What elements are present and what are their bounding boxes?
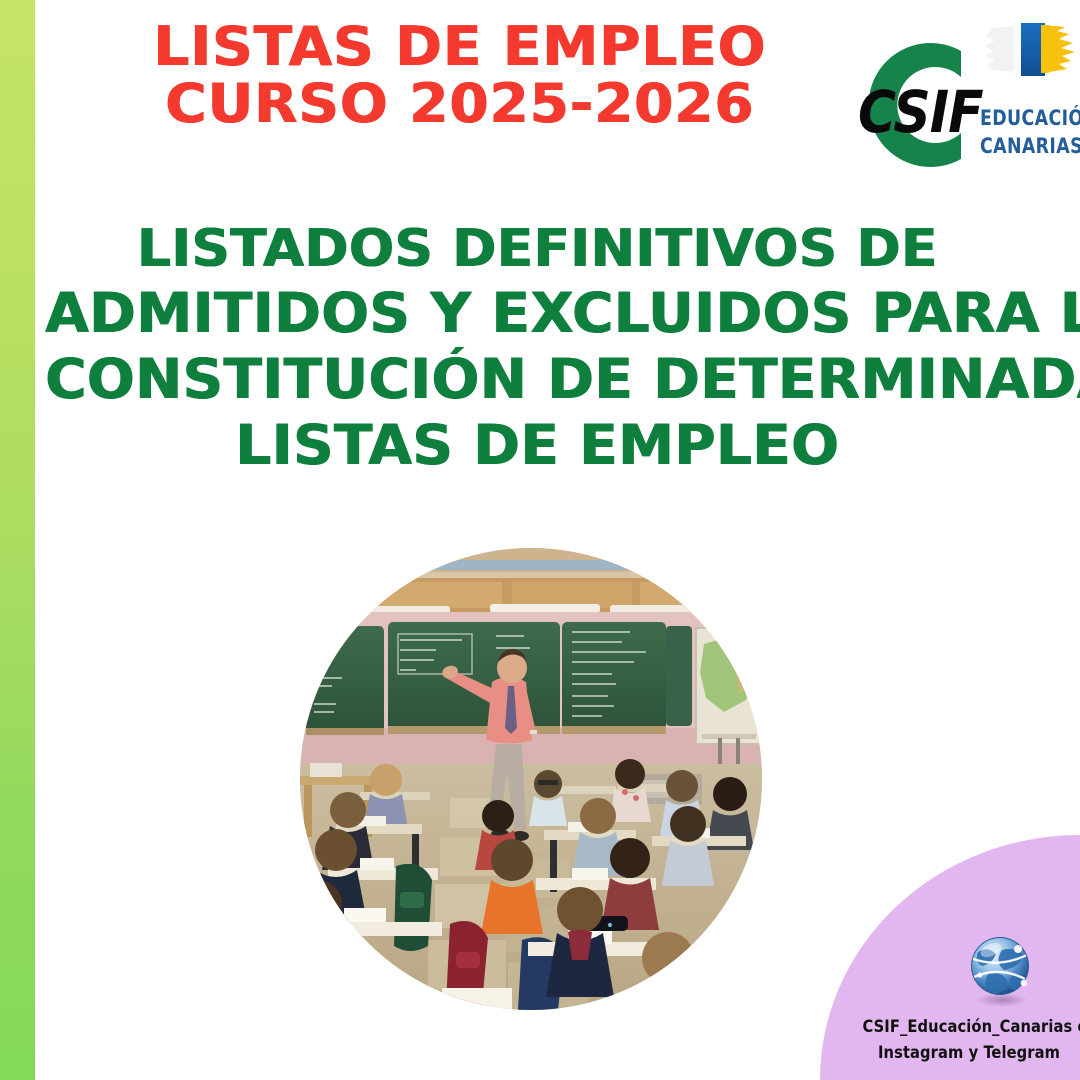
headline-line-4: LISTAS DE EMPLEO: [45, 412, 1029, 478]
globe-icon: [958, 928, 1042, 1012]
poster-title-red: LISTAS DE EMPLEO CURSO 2025-2026: [54, 18, 865, 132]
logo-subtitle-line-2: CANARIAS: [980, 132, 1077, 160]
footer-line-1: CSIF_Educación_Canarias en: [862, 1014, 1075, 1040]
poster-canvas: LISTAS DE EMPLEO CURSO 2025-2026 LISTADO…: [0, 0, 1080, 1080]
headline-line-2: ADMITIDOS Y EXCLUIDOS PARA LA: [45, 280, 1029, 346]
footer-line-2: Instagram y Telegram: [862, 1040, 1075, 1066]
poster-headline-green: LISTADOS DEFINITIVOS DE ADMITIDOS Y EXCL…: [45, 218, 1029, 478]
left-gradient-stripe: [0, 0, 35, 1080]
classroom-photo: [300, 548, 762, 1010]
title-red-line-2: CURSO 2025-2026: [54, 75, 865, 132]
csif-logo-subtitle: EDUCACIÓN CANARIAS: [980, 104, 1077, 161]
footer-social-text: CSIF_Educación_Canarias en Instagram y T…: [862, 1014, 1075, 1067]
title-red-line-1: LISTAS DE EMPLEO: [54, 18, 865, 75]
csif-logo-lockup: CSIF EDUCACIÓN CANA: [820, 12, 1080, 187]
headline-line-1: LISTADOS DEFINITIVOS DE: [45, 218, 1029, 280]
csif-wordmark: CSIF: [858, 84, 983, 142]
logo-subtitle-line-1: EDUCACIÓN: [980, 104, 1077, 132]
headline-line-3: CONSTITUCIÓN DE DETERMINADAS: [45, 346, 1029, 412]
canary-islands-flag-icon: [983, 18, 1079, 80]
